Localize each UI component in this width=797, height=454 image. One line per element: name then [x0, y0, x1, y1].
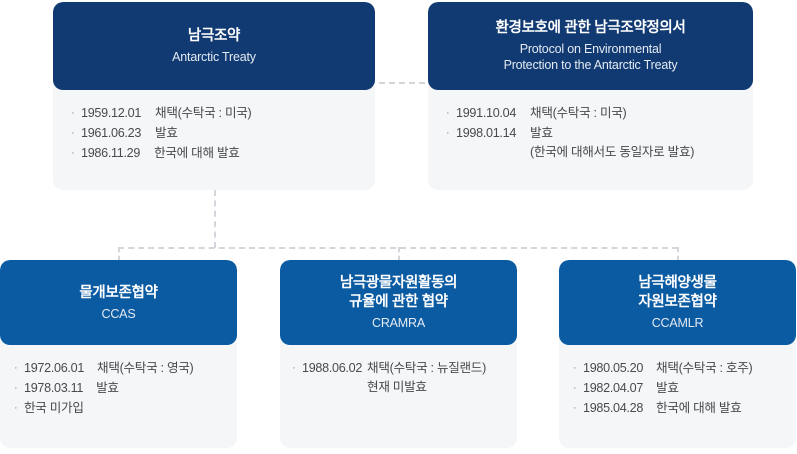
card-body-cramra: · 1988.06.02 채택(수탁국 : 뉴질랜드) 현재 미발효: [280, 345, 517, 410]
card-antarctic-treaty[interactable]: 남극조약 Antarctic Treaty · 1959.12.01 채택(수탁…: [53, 2, 375, 190]
card-header-antarctic-treaty: 남극조약 Antarctic Treaty: [53, 2, 375, 90]
detail-list-ccamlr: · 1980.05.20 채택(수탁국 : 호주) · 1982.04.07 발…: [559, 359, 796, 418]
detail-date: 1980.05.20: [583, 359, 643, 378]
detail-date: 1982.04.07: [583, 379, 643, 398]
bullet-icon: ·: [573, 359, 583, 378]
connector-drop-ccas: [118, 247, 120, 261]
bullet-icon: ·: [14, 379, 24, 398]
detail-text: 채택(수탁국 : 미국): [530, 104, 626, 123]
detail-date: 1985.04.28: [583, 399, 643, 418]
detail-text: 발효: [96, 379, 119, 398]
card-body-ccas: · 1972.06.01 채택(수탁국 : 영국) · 1978.03.11 발…: [0, 345, 237, 431]
connector-between-top-cards: [379, 82, 425, 84]
card-title-ko-ccamlr: 남극해양생물 자원보존협약: [638, 274, 716, 312]
card-title-ko-cramra: 남극광물자원활동의 규율에 관한 협약: [340, 274, 457, 312]
detail-list-antarctic-treaty: · 1959.12.01 채택(수탁국 : 미국) · 1961.06.23 발…: [53, 104, 375, 163]
detail-text: 한국에 대해 발효: [656, 399, 741, 418]
detail-row: · 1986.11.29 한국에 대해 발효: [71, 144, 375, 163]
connector-drop-cramra: [398, 247, 400, 261]
card-environmental-protocol[interactable]: 환경보호에 관한 남극조약정의서 Protocol on Environment…: [428, 2, 753, 190]
card-header-environmental-protocol: 환경보호에 관한 남극조약정의서 Protocol on Environment…: [428, 2, 753, 90]
detail-text: 채택(수탁국 : 호주): [656, 359, 752, 378]
detail-date: 1986.11.29: [81, 144, 140, 163]
bullet-icon: ·: [71, 124, 81, 143]
card-cramra[interactable]: 남극광물자원활동의 규율에 관한 협약 CRAMRA · 1988.06.02 …: [280, 260, 517, 448]
detail-row: · 1972.06.01 채택(수탁국 : 영국): [14, 359, 237, 378]
detail-date: 1998.01.14: [456, 124, 516, 143]
card-title-ko-ccas: 물개보존협약: [79, 284, 157, 303]
detail-row: · 1961.06.23 발효: [71, 124, 375, 143]
detail-row: · 1978.03.11 발효: [14, 379, 237, 398]
detail-text: 발효: [656, 379, 679, 398]
bullet-icon: ·: [573, 399, 583, 418]
detail-date: 1972.06.01: [24, 359, 84, 378]
detail-list-cramra: · 1988.06.02 채택(수탁국 : 뉴질랜드) 현재 미발효: [280, 359, 517, 397]
bullet-icon: ·: [446, 124, 456, 143]
detail-row: · 1991.10.04 채택(수탁국 : 미국): [446, 104, 753, 123]
detail-text: 채택(수탁국 : 뉴질랜드) 현재 미발효: [367, 359, 486, 397]
detail-row: · 한국 미가입: [14, 399, 237, 418]
detail-list-ccas: · 1972.06.01 채택(수탁국 : 영국) · 1978.03.11 발…: [0, 359, 237, 418]
detail-text: 한국에 대해 발효: [154, 144, 239, 163]
detail-row: · 1998.01.14 발효 (한국에 대해서도 동일자로 발효): [446, 124, 753, 162]
detail-text: 채택(수탁국 : 영국): [97, 359, 193, 378]
card-body-antarctic-treaty: · 1959.12.01 채택(수탁국 : 미국) · 1961.06.23 발…: [53, 90, 375, 176]
detail-date: 1988.06.02: [302, 359, 362, 378]
card-body-environmental-protocol: · 1991.10.04 채택(수탁국 : 미국) · 1998.01.14 발…: [428, 90, 753, 175]
detail-text: 발효 (한국에 대해서도 동일자로 발효): [530, 124, 694, 162]
detail-list-environmental-protocol: · 1991.10.04 채택(수탁국 : 미국) · 1998.01.14 발…: [428, 104, 753, 162]
card-header-ccas: 물개보존협약 CCAS: [0, 260, 237, 345]
detail-date: 1978.03.11: [24, 379, 83, 398]
antarctic-treaty-system-diagram: 남극조약 Antarctic Treaty · 1959.12.01 채택(수탁…: [0, 0, 797, 454]
card-ccamlr[interactable]: 남극해양생물 자원보존협약 CCAMLR · 1980.05.20 채택(수탁국…: [559, 260, 796, 448]
detail-date: 1961.06.23: [81, 124, 141, 143]
connector-drop-ccamlr: [677, 247, 679, 261]
detail-date: 1991.10.04: [456, 104, 516, 123]
card-header-ccamlr: 남극해양생물 자원보존협약 CCAMLR: [559, 260, 796, 345]
card-title-ko-antarctic-treaty: 남극조약: [188, 27, 240, 46]
detail-row: · 1988.06.02 채택(수탁국 : 뉴질랜드) 현재 미발효: [292, 359, 517, 397]
card-title-en-ccamlr: CCAMLR: [652, 315, 704, 331]
detail-row: · 1982.04.07 발효: [573, 379, 796, 398]
card-title-en-antarctic-treaty: Antarctic Treaty: [172, 49, 256, 65]
bullet-icon: ·: [446, 104, 456, 123]
bullet-icon: ·: [71, 144, 81, 163]
detail-row: · 1959.12.01 채택(수탁국 : 미국): [71, 104, 375, 123]
card-header-cramra: 남극광물자원활동의 규율에 관한 협약 CRAMRA: [280, 260, 517, 345]
detail-text: 한국 미가입: [24, 399, 84, 418]
bullet-icon: ·: [573, 379, 583, 398]
detail-row: · 1985.04.28 한국에 대해 발효: [573, 399, 796, 418]
bullet-icon: ·: [292, 359, 302, 378]
bullet-icon: ·: [71, 104, 81, 123]
card-ccas[interactable]: 물개보존협약 CCAS · 1972.06.01 채택(수탁국 : 영국) · …: [0, 260, 237, 448]
card-title-en-ccas: CCAS: [102, 306, 136, 322]
bullet-icon: ·: [14, 359, 24, 378]
card-title-ko-environmental-protocol: 환경보호에 관한 남극조약정의서: [495, 19, 685, 38]
card-title-en-environmental-protocol: Protocol on Environmental Protection to …: [504, 41, 678, 73]
card-body-ccamlr: · 1980.05.20 채택(수탁국 : 호주) · 1982.04.07 발…: [559, 345, 796, 431]
bullet-icon: ·: [14, 399, 24, 418]
detail-text: 발효: [155, 124, 178, 143]
detail-text: 채택(수탁국 : 미국): [155, 104, 251, 123]
connector-trunk-vertical: [214, 190, 216, 248]
detail-row: · 1980.05.20 채택(수탁국 : 호주): [573, 359, 796, 378]
card-title-en-cramra: CRAMRA: [372, 315, 425, 331]
detail-date: 1959.12.01: [81, 104, 141, 123]
